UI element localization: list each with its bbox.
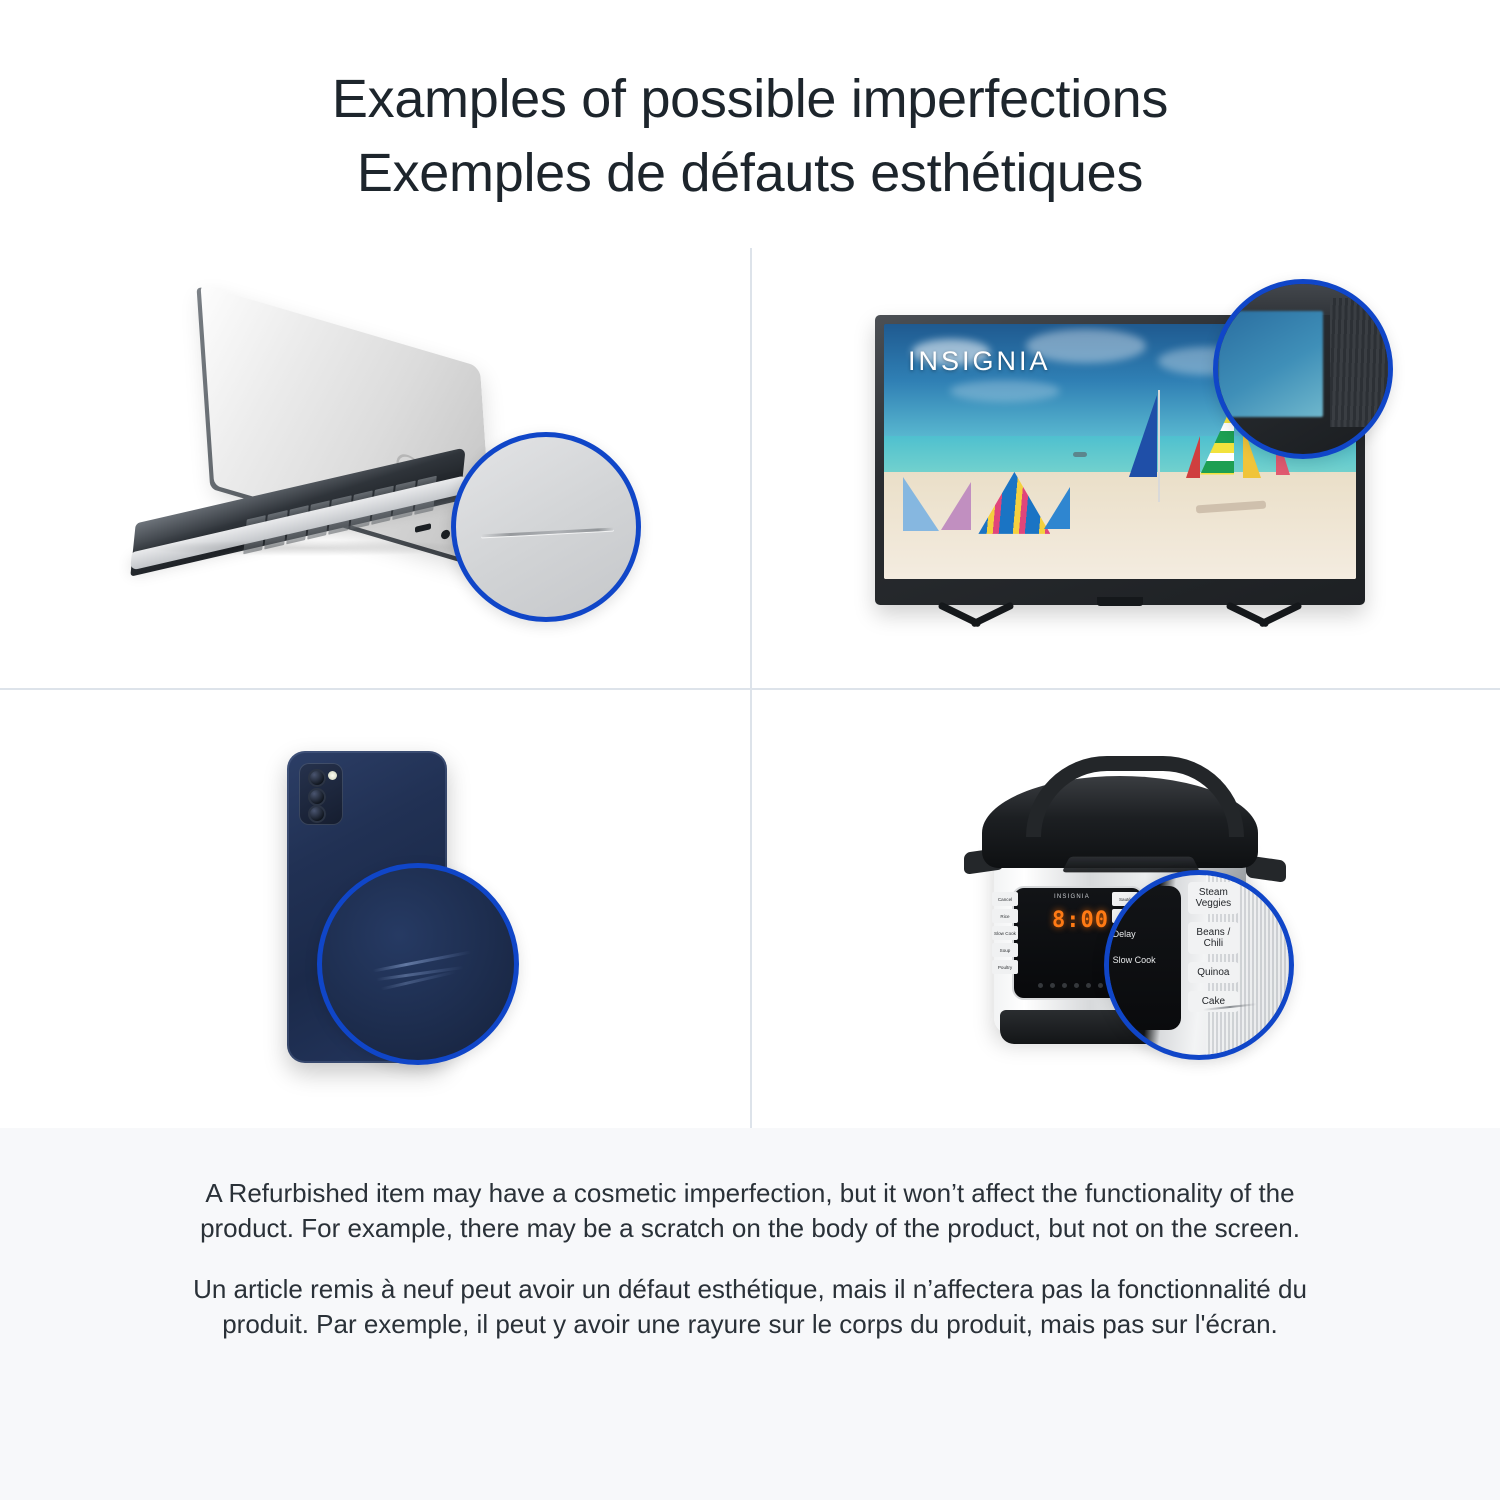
cooker-zoom-side-labels: Delay Slow Cook [1113,929,1174,965]
cooker-zoom-button: Steam Veggies [1188,882,1238,914]
refurbished-imperfections-page: Examples of possible imperfections Exemp… [0,0,1500,1500]
tv-leg-left [939,601,1013,631]
cooker-button[interactable]: Soup [992,943,1018,957]
tile-television: INSIGNIA [750,248,1500,688]
cooker-lid-vent [1062,857,1201,873]
cooker-button[interactable]: Rice [992,909,1018,923]
magnifier-cooker-scratch: Delay Slow Cook Steam Veggies Beans / Ch… [1104,870,1294,1060]
magnifier-laptop-scratch [451,432,641,622]
tv-illustration: INSIGNIA [865,293,1385,643]
laptop-shadow [145,540,475,556]
cooker-zoom-button: Quinoa [1188,962,1238,983]
cooker-zoom-buttons: Steam Veggies Beans / Chili Quinoa Cake [1188,882,1238,1012]
description-french: Un article remis à neuf peut avoir un dé… [185,1272,1315,1342]
camera-flash-icon [328,771,337,780]
cooker-button[interactable]: Cancel [992,892,1018,906]
cooker-zoom-label: Delay [1113,929,1174,939]
cooker-button[interactable]: Poultry [992,960,1018,974]
tv-ir-sensor-icon [1097,597,1143,606]
camera-lens-icon [308,769,326,787]
beach-tent-light [903,477,939,531]
phone-camera-module-icon [299,763,343,825]
footer-description: A Refurbished item may have a cosmetic i… [0,1128,1500,1500]
description-english: A Refurbished item may have a cosmetic i… [185,1176,1315,1246]
cooker-led-display: 8:00 [1052,908,1109,933]
beach-tent-purple [941,482,971,530]
sailboat-red-sail [1186,436,1200,478]
title-french: Exemples de défauts esthétiques [0,136,1500,210]
tile-smartphone [0,688,750,1128]
magnifier-phone-scratches [317,863,519,1065]
tv-brand-logo: INSIGNIA [908,346,1051,377]
tv-screen-corner [1218,311,1323,416]
camera-lens-icon [308,788,326,806]
phone-illustration [225,743,525,1073]
sailboat-mast [1158,390,1160,502]
cooker-zoom-button: Beans / Chili [1188,922,1238,954]
cooker-button[interactable]: Slow Cook [992,926,1018,940]
sailboat-blue-sail [1129,395,1157,477]
laptop-scratch-mark [481,527,614,537]
title-english: Examples of possible imperfections [0,62,1500,136]
cooker-illustration: INSIGNIA 8:00 Cancel Rice Slow Cook Soup… [960,738,1290,1078]
cooker-buttons-left[interactable]: Cancel Rice Slow Cook Soup Poultry [992,892,1018,974]
magnifier-tv-bezel [1213,279,1393,459]
distant-boat-icon [1073,452,1087,457]
product-examples-grid: INSIGNIA [0,248,1500,1128]
tile-pressure-cooker: INSIGNIA 8:00 Cancel Rice Slow Cook Soup… [750,688,1500,1128]
cooker-zoom-label: Slow Cook [1113,955,1174,965]
page-title: Examples of possible imperfections Exemp… [0,0,1500,210]
beach-tent-blue [1044,487,1070,529]
tv-bezel-scuff [1330,298,1388,427]
cooker-brand-label: INSIGNIA [1054,894,1090,900]
cooker-lid-handle [1026,756,1244,837]
camera-lens-icon [308,805,326,823]
tile-laptop [0,248,750,688]
cloud-icon [950,380,1060,402]
tv-leg-right [1227,601,1301,631]
laptop-illustration [115,318,635,618]
